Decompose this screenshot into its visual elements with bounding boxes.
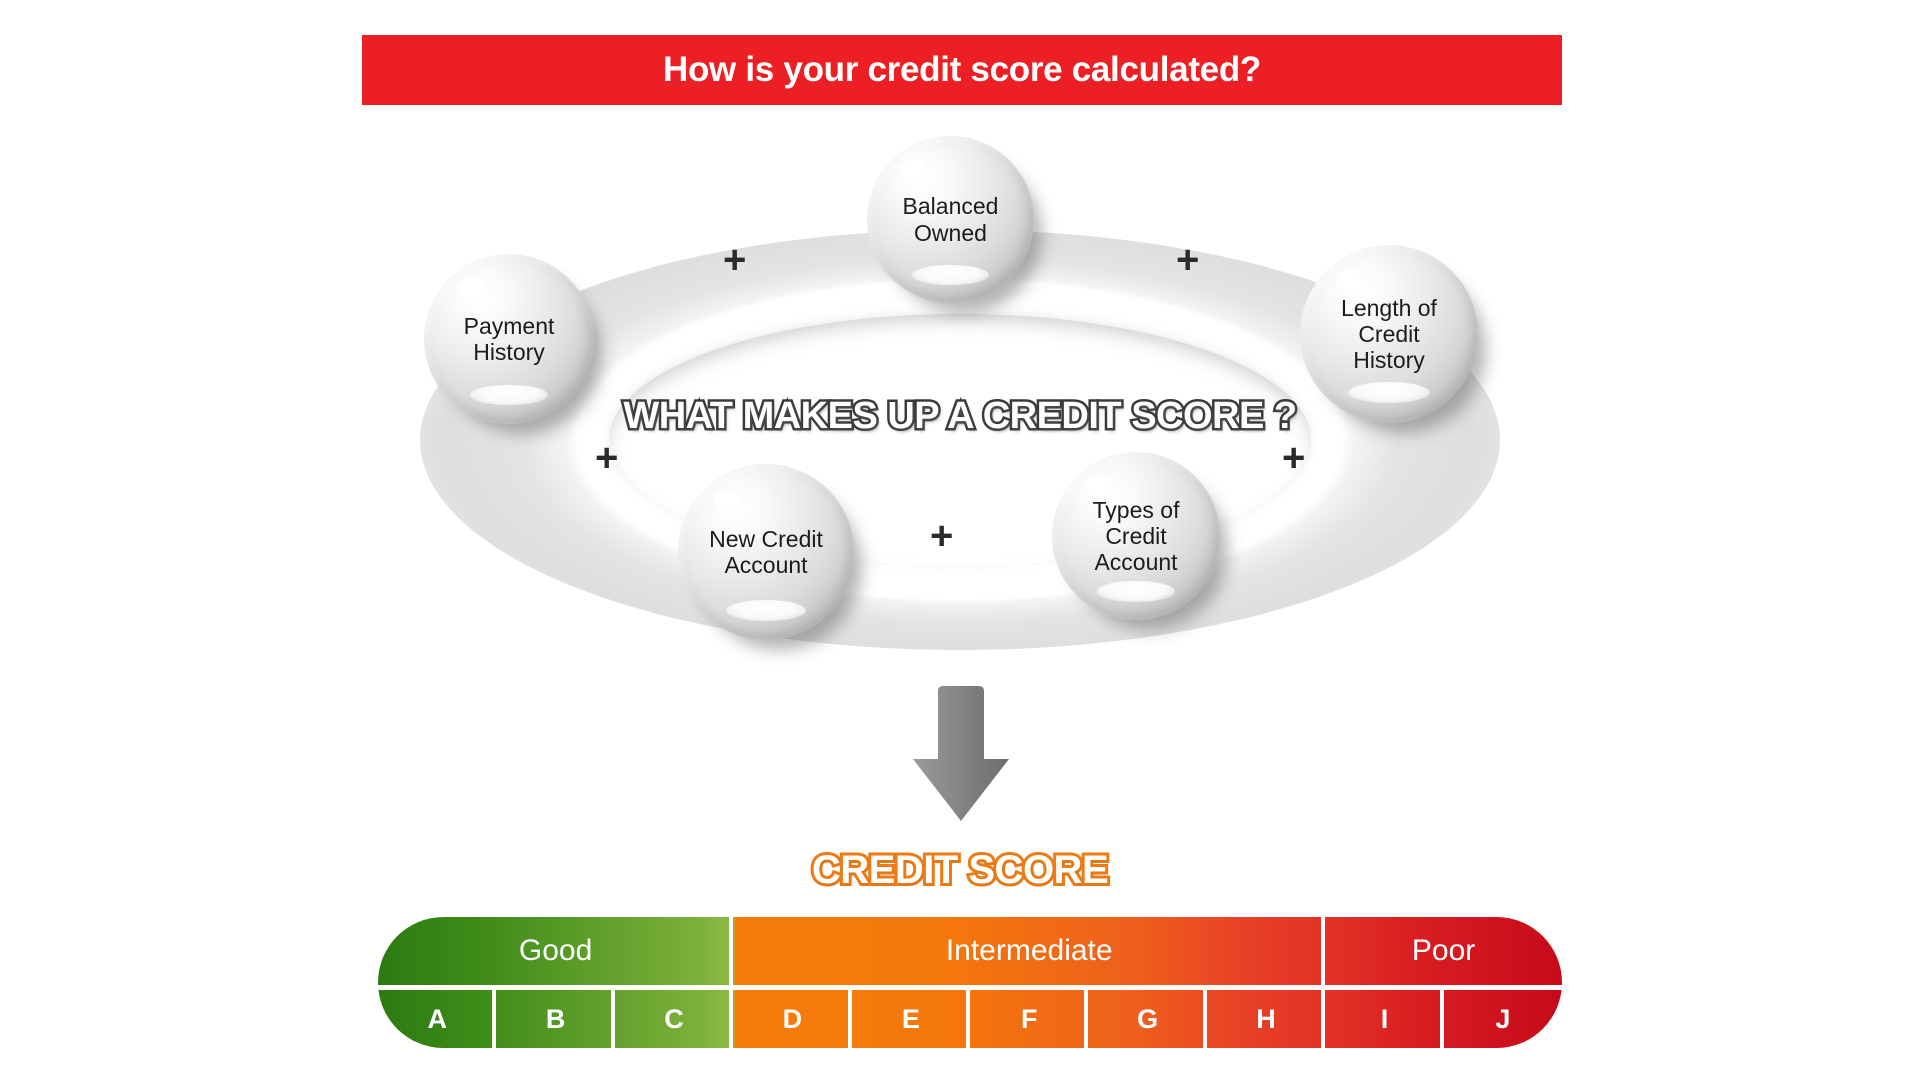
down-arrow-icon xyxy=(910,685,1012,823)
scale-grade-b[interactable]: B xyxy=(496,990,614,1048)
credit-score-scale: Good Intermediate Poor A B C D E F G xyxy=(378,917,1562,1048)
scale-grade-d-label: D xyxy=(783,1004,803,1035)
scale-band-poor[interactable]: Poor xyxy=(1325,917,1562,985)
sphere-highlight-dot xyxy=(1336,270,1363,291)
sphere-highlight-dot xyxy=(900,159,925,179)
scale-grade-j-label: J xyxy=(1495,1004,1510,1035)
sphere-bottom-reflection xyxy=(470,385,548,405)
sphere-highlight-dot xyxy=(1086,476,1111,496)
scale-band-row: Good Intermediate Poor xyxy=(378,917,1562,985)
scale-grade-f-label: F xyxy=(1021,1004,1038,1035)
scale-grade-a-label: A xyxy=(427,1004,447,1035)
sphere-bottom-reflection xyxy=(1097,581,1174,601)
factor-label-types-of-credit-account: Types of Credit Account xyxy=(1093,497,1180,576)
plus-icon-3: + xyxy=(595,438,618,478)
scale-grade-c[interactable]: C xyxy=(615,990,733,1048)
scale-grade-e[interactable]: E xyxy=(852,990,970,1048)
sphere-bottom-reflection xyxy=(726,600,807,621)
scale-grade-h[interactable]: H xyxy=(1207,990,1325,1048)
sphere-highlight-dot xyxy=(458,278,484,298)
factor-sphere-payment-history[interactable]: Payment History xyxy=(424,254,594,424)
sphere-bottom-reflection xyxy=(1348,382,1430,403)
scale-grade-b-label: B xyxy=(546,1004,566,1035)
plus-icon-4: + xyxy=(1282,438,1305,478)
scale-grade-e-label: E xyxy=(902,1004,920,1035)
scale-grade-a[interactable]: A xyxy=(378,990,496,1048)
title-banner: How is your credit score calculated? xyxy=(362,35,1562,105)
scale-band-intermediate[interactable]: Intermediate xyxy=(733,917,1325,985)
scale-band-good[interactable]: Good xyxy=(378,917,733,985)
plus-icon-1: + xyxy=(723,240,746,280)
scale-grade-g[interactable]: G xyxy=(1088,990,1206,1048)
scale-grade-f[interactable]: F xyxy=(970,990,1088,1048)
scale-grade-c-label: C xyxy=(664,1004,684,1035)
scale-grade-i[interactable]: I xyxy=(1325,990,1443,1048)
factor-sphere-new-credit-account[interactable]: New Credit Account xyxy=(678,464,854,640)
sphere-highlight-dot xyxy=(713,489,739,510)
factor-label-new-credit-account: New Credit Account xyxy=(709,526,823,578)
factor-label-balanced-owned: Balanced Owned xyxy=(903,193,999,245)
credit-score-heading: CREDIT SCORE xyxy=(812,848,1108,893)
scale-grade-g-label: G xyxy=(1137,1004,1158,1035)
factor-sphere-balanced-owned[interactable]: Balanced Owned xyxy=(867,136,1034,303)
credit-score-heading-wrap: CREDIT SCORE xyxy=(0,848,1920,893)
scale-band-good-label: Good xyxy=(519,934,592,968)
scale-grade-j[interactable]: J xyxy=(1444,990,1562,1048)
factor-label-payment-history: Payment History xyxy=(464,313,555,365)
factor-sphere-length-of-credit-history[interactable]: Length of Credit History xyxy=(1300,245,1478,423)
scale-grade-row: A B C D E F G H I J xyxy=(378,990,1562,1048)
plus-icon-5: + xyxy=(930,516,953,556)
scale-grade-h-label: H xyxy=(1256,1004,1276,1035)
plus-icon-2: + xyxy=(1176,240,1199,280)
sphere-bottom-reflection xyxy=(912,265,989,285)
scale-band-intermediate-label: Intermediate xyxy=(946,934,1113,968)
factor-sphere-types-of-credit-account[interactable]: Types of Credit Account xyxy=(1052,452,1220,620)
scale-grade-i-label: I xyxy=(1381,1004,1389,1035)
page-title: How is your credit score calculated? xyxy=(663,50,1261,90)
factor-label-length-of-credit-history: Length of Credit History xyxy=(1341,295,1437,374)
scale-grade-d[interactable]: D xyxy=(733,990,851,1048)
scale-band-poor-label: Poor xyxy=(1412,934,1475,968)
